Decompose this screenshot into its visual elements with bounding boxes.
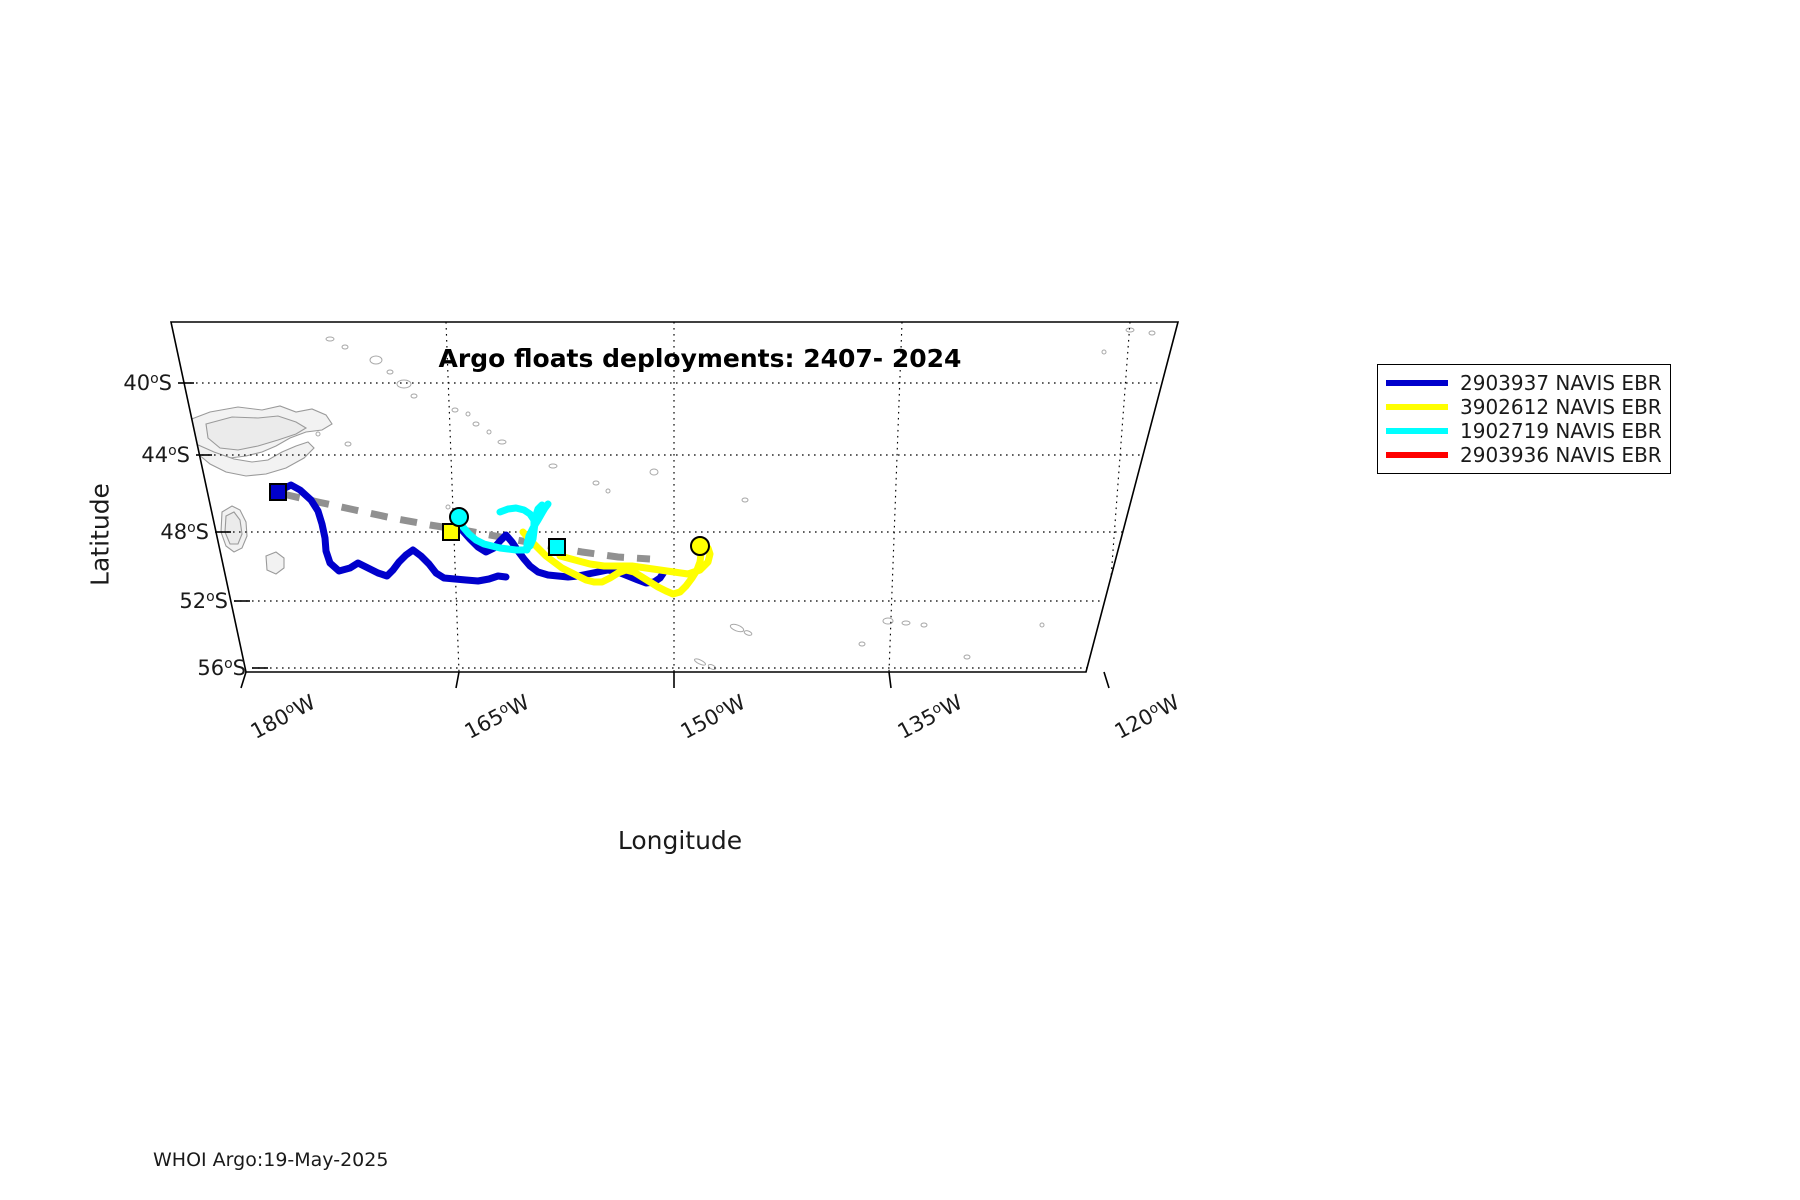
deployment-marker-1902719 — [450, 508, 468, 526]
page-title: Argo floats deployments: 2407- 2024 — [200, 344, 1200, 373]
argo-float-map-figure: Argo floats deployments: 2407- 2024 Long… — [0, 0, 1800, 1200]
trajectory-2903936 — [1228, 425, 1241, 447]
y-tick-label-40S: 40oS — [56, 371, 172, 395]
legend-swatch-2903937 — [1386, 380, 1448, 386]
map-ocean-background — [171, 322, 1181, 674]
deployment-marker-2903936 — [1235, 418, 1251, 434]
credit-text: WHOI Argo:19-May-2025 — [153, 1149, 388, 1171]
y-tick-label-44S: 44oS — [74, 443, 190, 467]
y-tick-label-52S: 52oS — [112, 589, 228, 613]
x-tick-marks — [241, 672, 1109, 688]
legend-label-3902612: 3902612 NAVIS EBR — [1460, 395, 1662, 419]
legend-label-2903937: 2903937 NAVIS EBR — [1460, 371, 1662, 395]
legend-swatch-2903936 — [1386, 452, 1448, 458]
latest-marker-2903936 — [1217, 440, 1235, 458]
legend-item-3902612[interactable]: 3902612 NAVIS EBR — [1386, 395, 1662, 419]
y-tick-label-48S: 48oS — [93, 520, 209, 544]
legend-label-2903936: 2903936 NAVIS EBR — [1460, 443, 1662, 467]
legend: 2903937 NAVIS EBR 3902612 NAVIS EBR 1902… — [1377, 364, 1671, 474]
x-axis-label: Longitude — [430, 826, 930, 855]
latest-marker-3902612 — [691, 537, 709, 555]
map-plot-area — [0, 0, 1800, 1200]
deployment-marker-2903937 — [270, 484, 286, 500]
legend-swatch-1902719 — [1386, 428, 1448, 434]
legend-label-1902719: 1902719 NAVIS EBR — [1460, 419, 1662, 443]
legend-item-2903937[interactable]: 2903937 NAVIS EBR — [1386, 371, 1662, 395]
legend-item-1902719[interactable]: 1902719 NAVIS EBR — [1386, 419, 1662, 443]
legend-item-2903936[interactable]: 2903936 NAVIS EBR — [1386, 443, 1662, 467]
legend-swatch-3902612 — [1386, 404, 1448, 410]
y-tick-label-56S: 56oS — [130, 656, 246, 680]
latest-marker-1902719 — [549, 539, 565, 555]
